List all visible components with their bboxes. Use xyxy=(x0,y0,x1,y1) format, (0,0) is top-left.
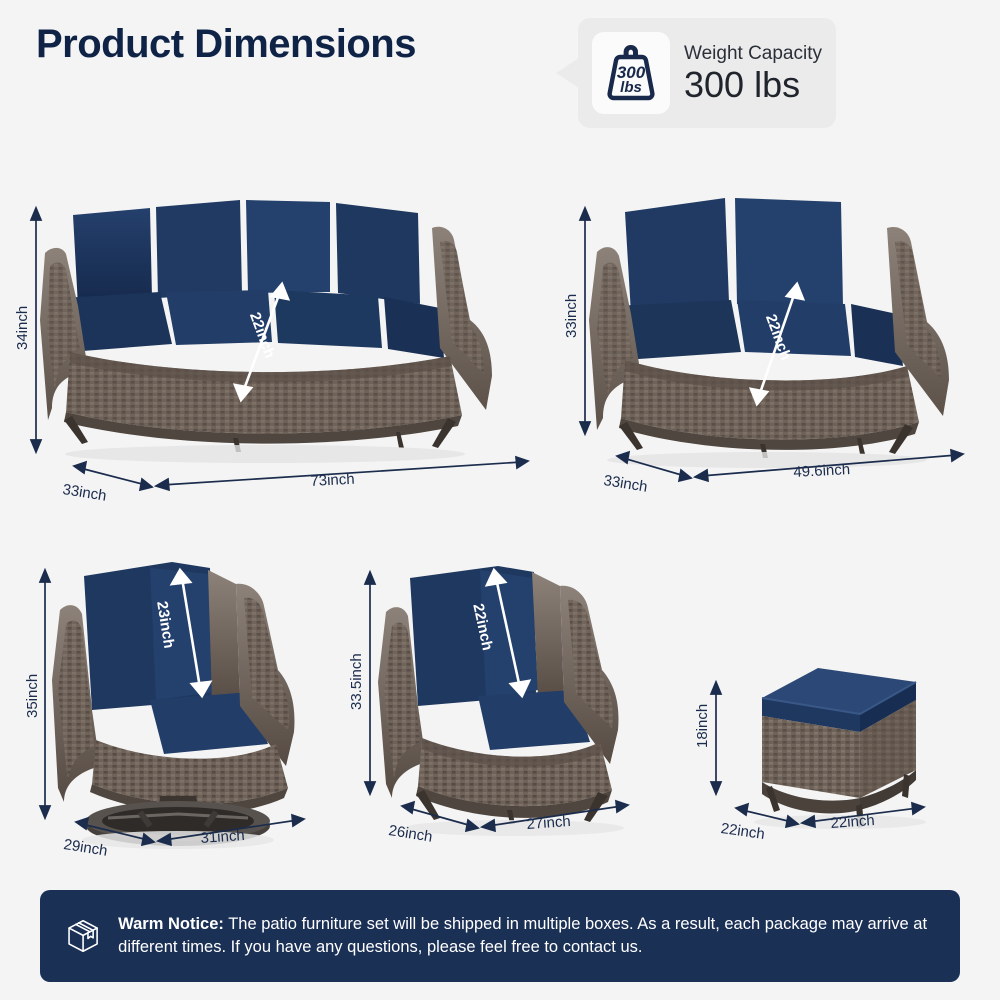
page-title: Product Dimensions xyxy=(36,22,416,67)
sofa-illustration xyxy=(0,180,560,510)
swivel-chair-illustration xyxy=(0,540,340,870)
weight-icon: 300 lbs xyxy=(600,41,662,105)
product-armchair: 33.5inch 26inch 27inch 22inch xyxy=(330,540,680,870)
swivel-chair-width-label: 31inch xyxy=(200,827,245,847)
svg-text:lbs: lbs xyxy=(620,79,642,96)
product-ottoman: 18inch 22inch 22inch xyxy=(670,630,1000,870)
warm-notice-banner: Warm Notice: The patio furniture set wil… xyxy=(40,890,960,982)
warm-notice-body: The patio furniture set will be shipped … xyxy=(118,915,927,956)
weight-capacity-badge: 300 lbs Weight Capacity 300 lbs xyxy=(556,18,836,136)
infographic-page: Product Dimensions 300 lbs Weight Capaci… xyxy=(0,0,1000,1000)
package-box-icon xyxy=(66,907,100,965)
ottoman-width-label: 22inch xyxy=(830,812,875,832)
warm-notice-label: Warm Notice: xyxy=(118,915,224,933)
armchair-height-label: 33.5inch xyxy=(348,653,365,710)
product-swivel-chair: 35inch 29inch 31inch 23inch xyxy=(0,540,340,870)
loveseat-height-label: 33inch xyxy=(563,294,580,338)
armchair-width-label: 27inch xyxy=(526,813,571,833)
weight-icon-tile: 300 lbs xyxy=(592,32,670,114)
sofa-height-label: 34inch xyxy=(14,306,31,350)
product-3-seat-sofa: 34inch 33inch 73inch 22inch xyxy=(0,180,560,510)
product-loveseat: 33inch 33inch 49.6inch 22inch xyxy=(545,180,1000,510)
loveseat-width-label: 49.6inch xyxy=(793,461,851,481)
weight-capacity-value: 300 lbs xyxy=(684,67,822,103)
ottoman-height-label: 18inch xyxy=(694,704,711,748)
swivel-chair-height-label: 35inch xyxy=(24,674,41,718)
weight-capacity-label: Weight Capacity xyxy=(684,44,822,63)
sofa-width-label: 73inch xyxy=(310,471,355,490)
armchair-illustration xyxy=(330,540,680,870)
warm-notice-text: Warm Notice: The patio furniture set wil… xyxy=(118,913,934,959)
